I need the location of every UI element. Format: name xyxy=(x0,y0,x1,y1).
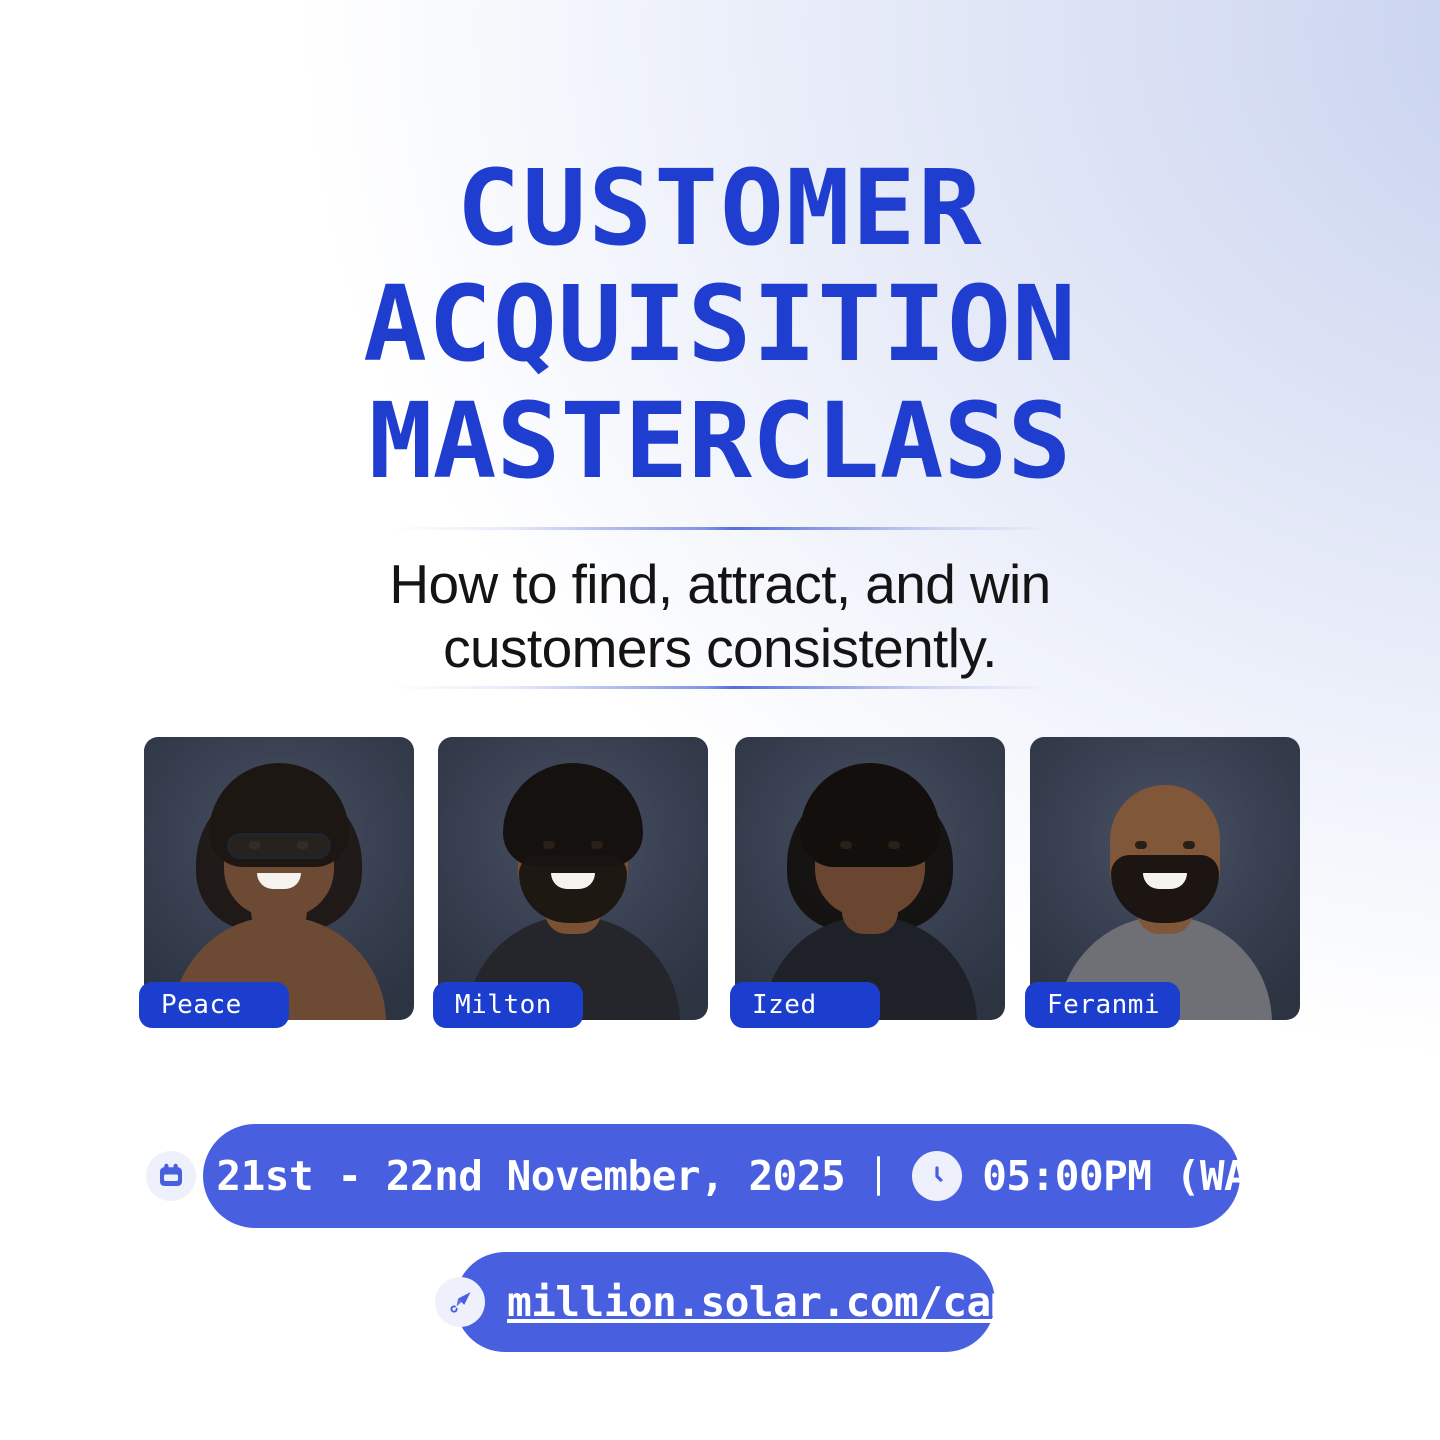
speaker-photo-ized xyxy=(735,737,1005,1020)
speaker-photo-peace xyxy=(144,737,414,1020)
page-title: CUSTOMER ACQUISITION MASTERCLASS xyxy=(0,150,1440,499)
speaker-photo-milton xyxy=(438,737,708,1020)
speaker-list: Peace Milton xyxy=(0,742,1440,1052)
speaker-portrait xyxy=(1030,737,1300,1020)
send-icon xyxy=(435,1277,485,1327)
speaker-portrait xyxy=(144,737,414,1020)
event-flyer: CUSTOMER ACQUISITION MASTERCLASS How to … xyxy=(0,0,1440,1440)
headline-line-3: MASTERCLASS xyxy=(0,383,1440,499)
headline-line-1: CUSTOMER xyxy=(0,150,1440,266)
subtitle: How to find, attract, and win customers … xyxy=(0,552,1440,681)
speaker-photo-feranmi xyxy=(1030,737,1300,1020)
speaker-card-peace[interactable]: Peace xyxy=(144,772,414,1015)
event-datetime-bar: 21st - 22nd November, 2025 05:00PM (WAT) xyxy=(203,1124,1240,1228)
speaker-name-pill: Milton xyxy=(433,982,583,1028)
clock-icon xyxy=(912,1151,962,1201)
calendar-icon xyxy=(146,1151,196,1201)
event-time: 05:00PM (WAT) xyxy=(982,1152,1296,1200)
divider-bottom xyxy=(390,686,1050,689)
speaker-card-ized[interactable]: Ized xyxy=(735,772,1005,1015)
registration-link-button[interactable]: million.solar.com/cam xyxy=(455,1252,995,1352)
speaker-portrait xyxy=(735,737,1005,1020)
speaker-card-feranmi[interactable]: Feranmi xyxy=(1030,772,1300,1015)
divider-top xyxy=(390,527,1050,530)
glasses-icon xyxy=(227,833,331,859)
registration-url: million.solar.com/cam xyxy=(507,1278,1015,1326)
speaker-name-pill: Feranmi xyxy=(1025,982,1180,1028)
subtitle-line-1: How to find, attract, and win xyxy=(0,552,1440,616)
event-date: 21st - 22nd November, 2025 xyxy=(216,1152,845,1200)
speaker-name-pill: Peace xyxy=(139,982,289,1028)
speaker-portrait xyxy=(438,737,708,1020)
separator xyxy=(877,1156,880,1196)
speaker-name-pill: Ized xyxy=(730,982,880,1028)
speaker-card-milton[interactable]: Milton xyxy=(438,772,708,1015)
subtitle-line-2: customers consistently. xyxy=(0,616,1440,680)
headline-line-2: ACQUISITION xyxy=(0,266,1440,382)
